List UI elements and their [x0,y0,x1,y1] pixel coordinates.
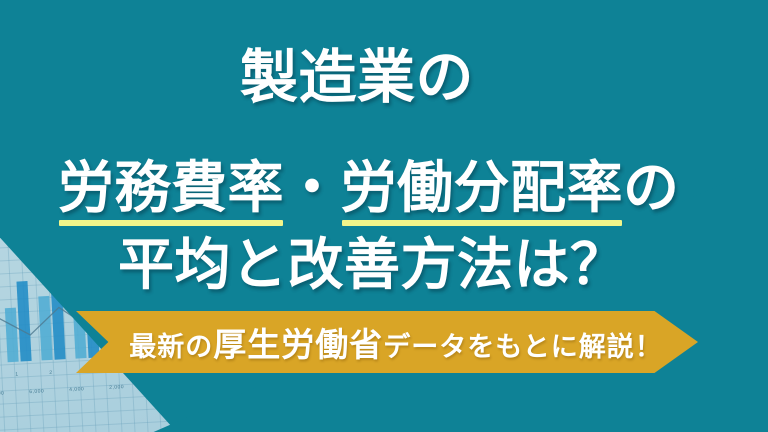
headline-line-3: 平均と改善方法は？ [118,220,627,301]
headline-line-2: 労務費率・労働分配率の [58,143,680,224]
thumbnail-canvas: ON C CE OFF M+ M− % 9 ÷ × [0,0,768,432]
headline-line-1: 製造業の [240,30,474,114]
headline-line-2-tail: の [623,156,680,219]
gold-arrow-banner: 最新の厚生労働省データをもとに解説！ [76,311,698,373]
headline-emphasis-roudoubunpairitsu: 労働分配率 [341,143,624,224]
banner-suffix: データをもとに解説！ [383,325,662,364]
headline-emphasis-rousouhiritsu: 労務費率 [58,143,284,224]
banner-emphasis-ministry: 厚生労働省 [213,318,383,366]
banner-prefix: 最新の [129,325,213,364]
banner-text: 最新の厚生労働省データをもとに解説！ [129,318,662,366]
headline-separator: ・ [284,156,341,219]
